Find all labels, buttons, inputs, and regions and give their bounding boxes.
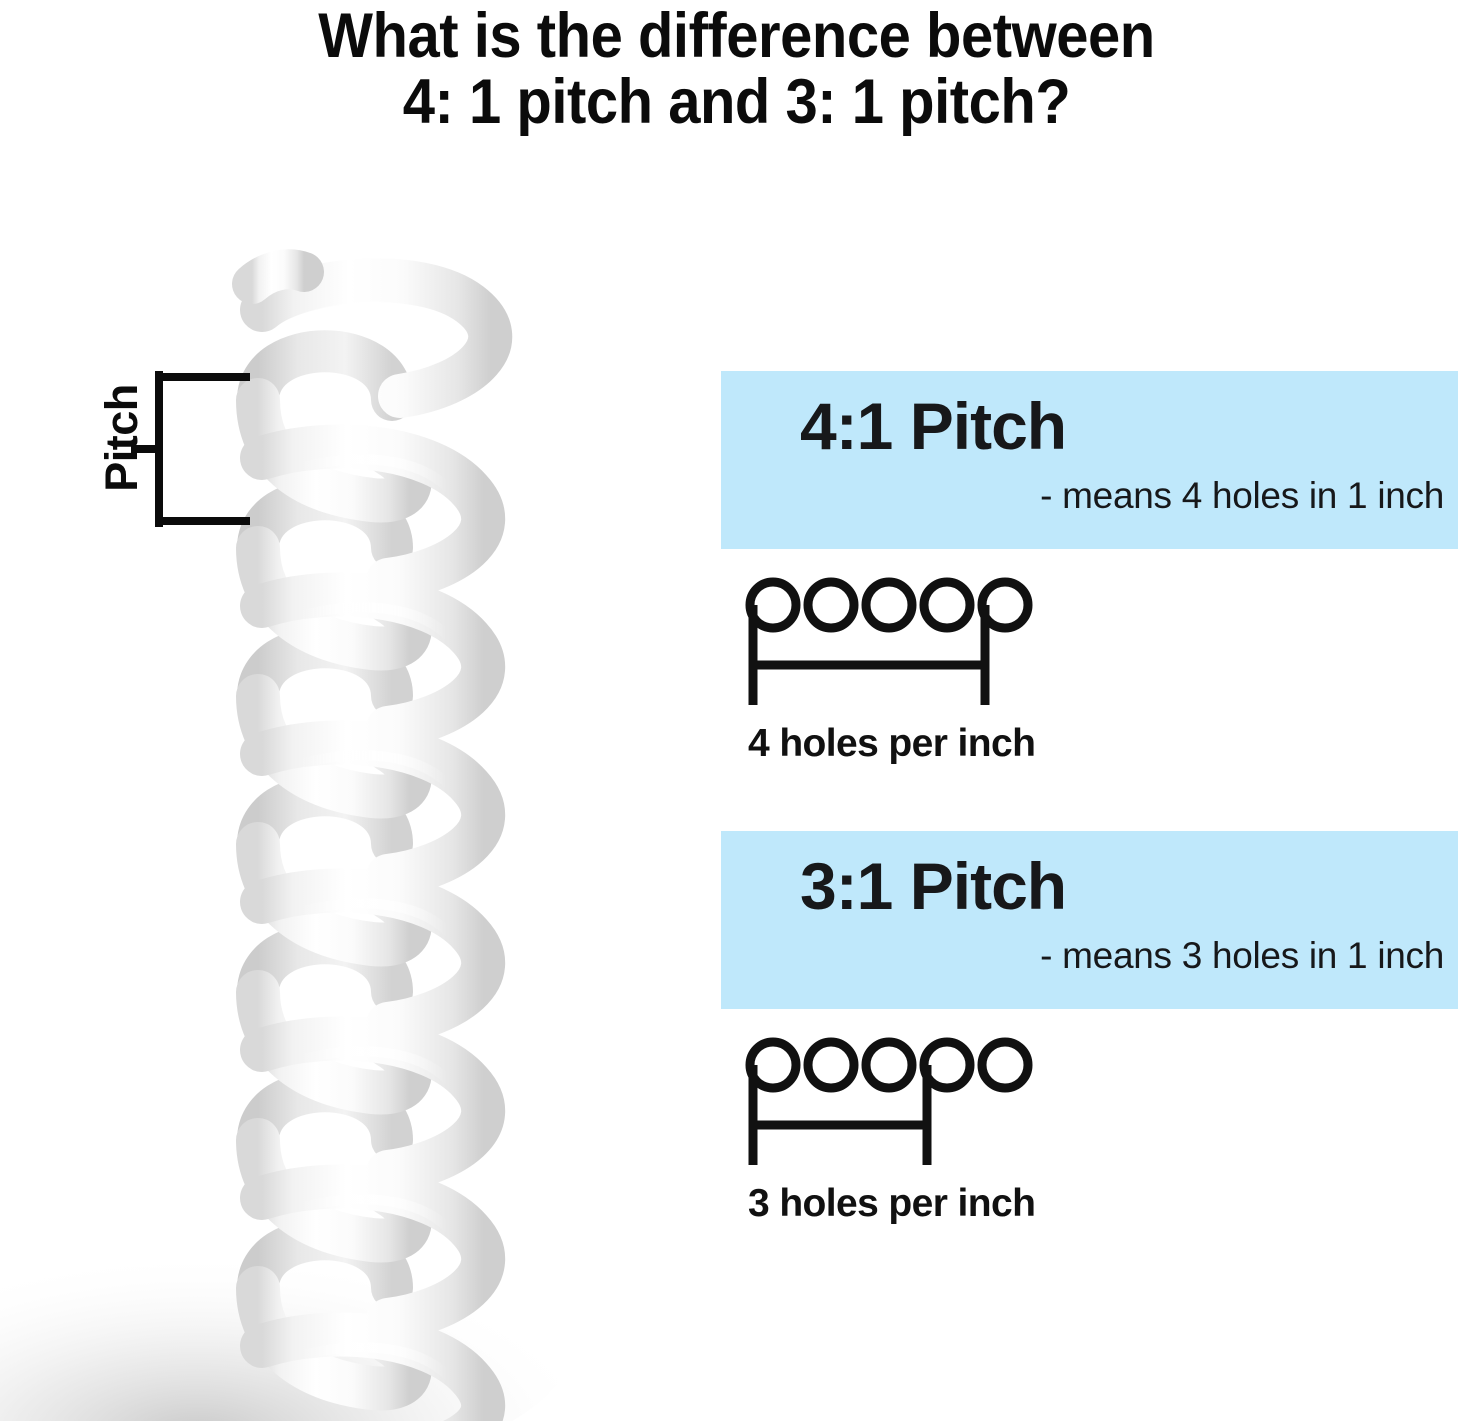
holes-caption-3-1: 3 holes per inch (748, 1182, 1035, 1226)
holes-caption-4-1: 4 holes per inch (748, 722, 1035, 766)
title-line-1: What is the difference between (59, 4, 1414, 70)
banner-title-3-1: 3:1 Pitch (800, 848, 1066, 924)
banner-4-1-pitch: 4:1 Pitch - means 4 holes in 1 inch (721, 371, 1458, 549)
holes-diagram-4-1: 4 holes per inch (721, 565, 1458, 780)
banner-title-4-1: 4:1 Pitch (800, 388, 1066, 464)
holes-3-per-inch-icon (721, 1025, 1141, 1185)
pitch-label: Pitch (96, 363, 148, 513)
holes-4-per-inch-icon (721, 565, 1141, 725)
banner-subtitle-4-1: - means 4 holes in 1 inch (1040, 475, 1444, 517)
banner-3-1-pitch: 3:1 Pitch - means 3 holes in 1 inch (721, 831, 1458, 1009)
hole-circle (808, 582, 854, 628)
pitch-bracket-icon (60, 350, 280, 570)
pitch-measure-group: Pitch (60, 350, 280, 570)
hole-circle (866, 582, 912, 628)
title-line-2: 4: 1 pitch and 3: 1 pitch? (59, 70, 1414, 136)
hole-circle (924, 582, 970, 628)
hole-circle (808, 1042, 854, 1088)
holes-diagram-3-1: 3 holes per inch (721, 1025, 1458, 1240)
infographic-page: What is the difference between 4: 1 pitc… (0, 0, 1473, 1421)
banner-subtitle-3-1: - means 3 holes in 1 inch (1040, 935, 1444, 977)
hole-circle (866, 1042, 912, 1088)
hole-circle (982, 1042, 1028, 1088)
page-title: What is the difference between 4: 1 pitc… (0, 4, 1473, 135)
